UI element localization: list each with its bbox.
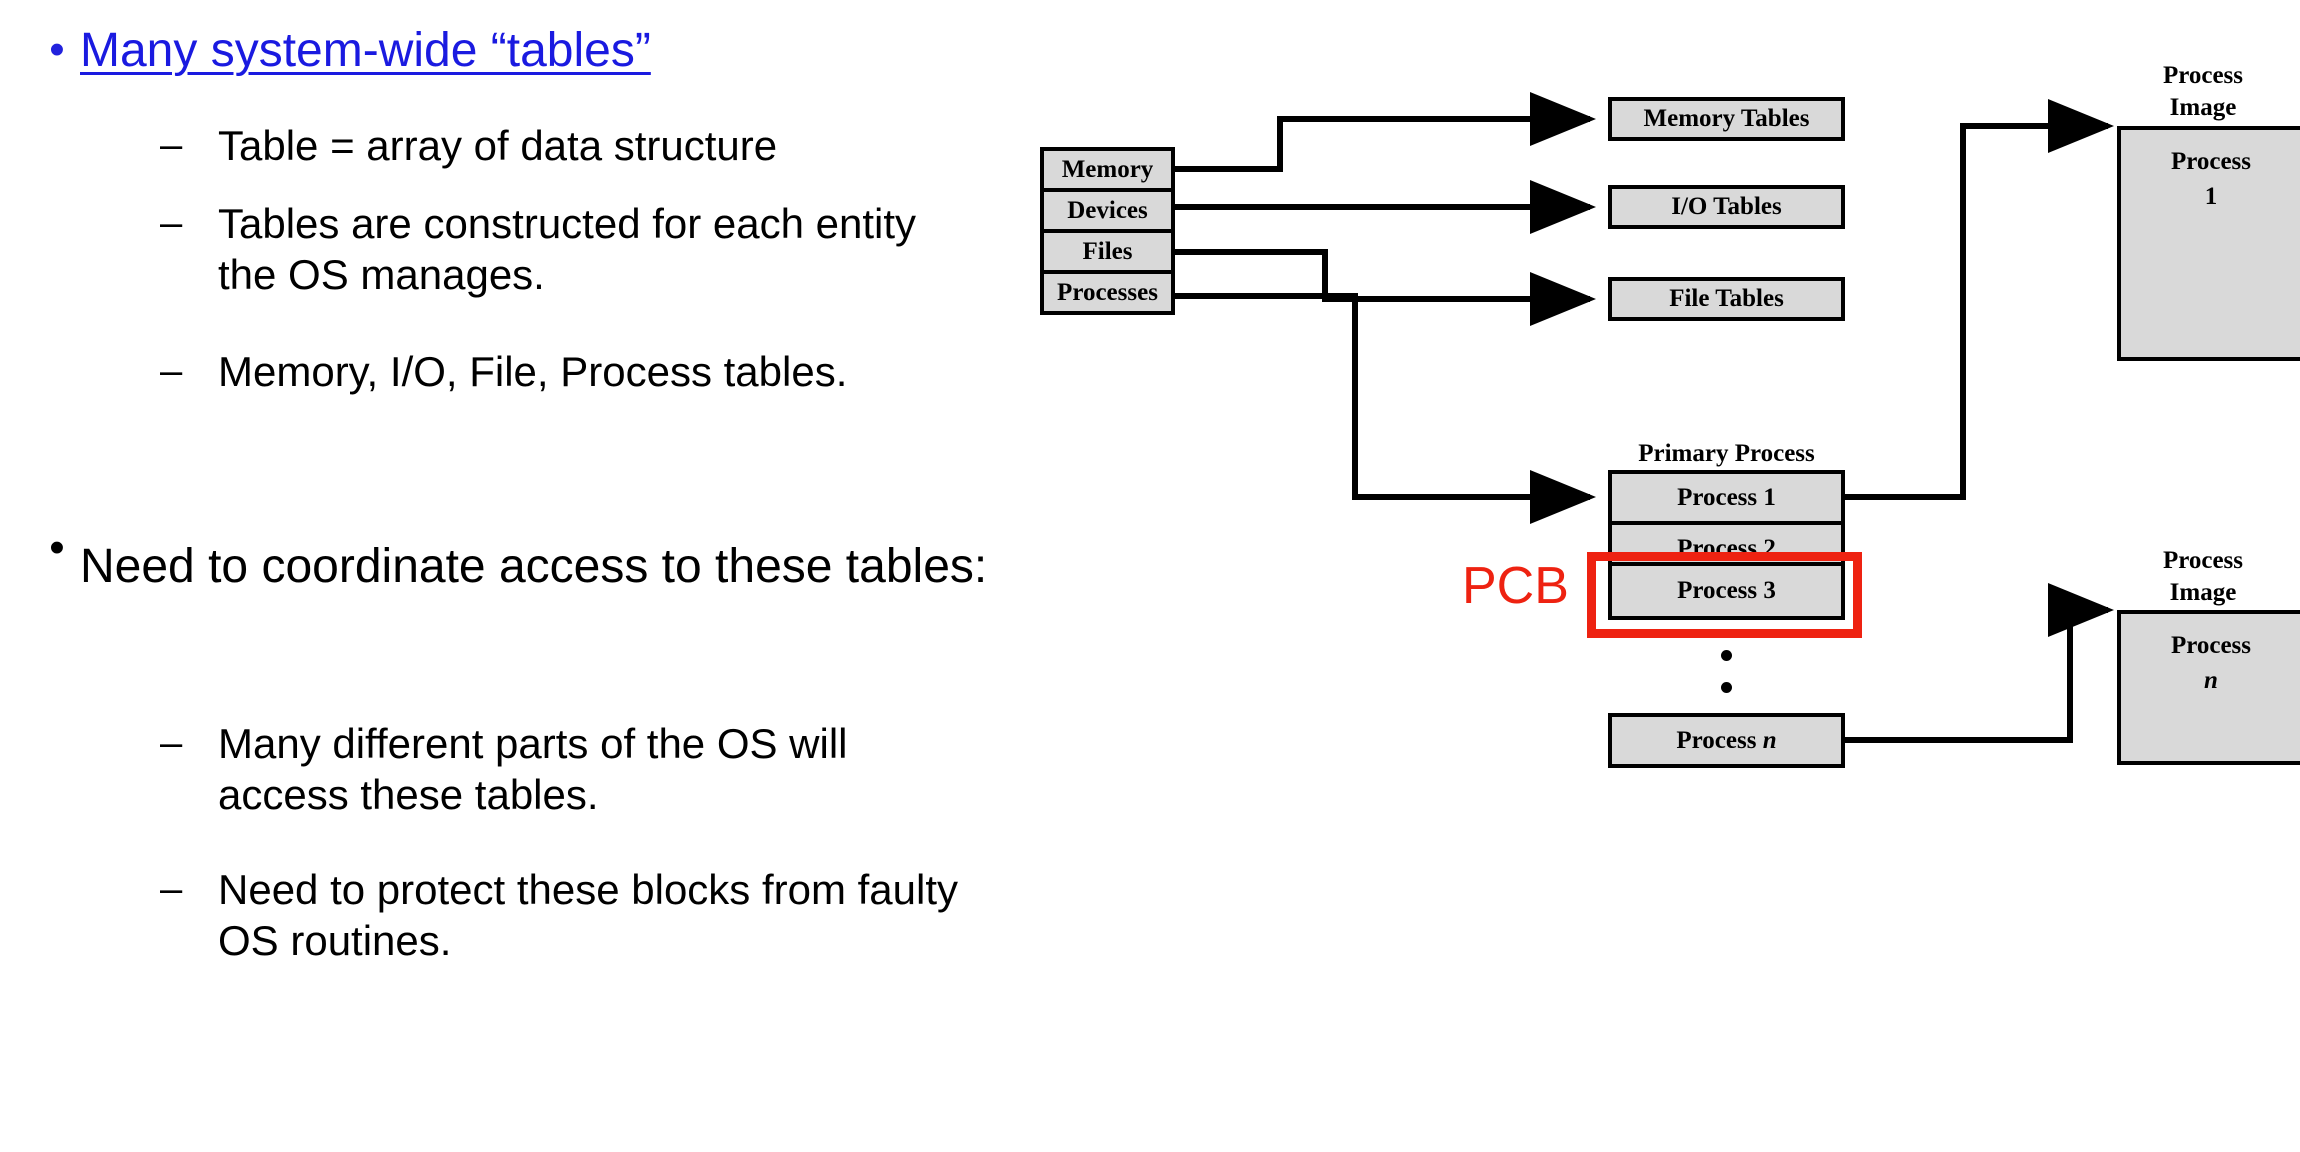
source-row-memory[interactable]: Memory [1040, 147, 1175, 192]
process-image-1-box[interactable]: Process 1 [2117, 126, 2300, 361]
dash-marker: – [160, 120, 218, 170]
process-table-row-1[interactable]: Process 1 [1608, 470, 1845, 525]
bullet-text-coordinate-access: Need to coordinate access to these table… [80, 520, 987, 614]
bullet-item-1: • Many system-wide “tables” [34, 22, 1014, 80]
source-row-files[interactable]: Files [1040, 229, 1175, 274]
sub-bullet-text-table-kinds: Memory, I/O, File, Process tables. [218, 346, 847, 397]
bullet-marker: • [34, 22, 80, 78]
dash-marker: – [160, 198, 218, 248]
process-image-label-line2: 1 [2121, 179, 2300, 214]
source-row-label: Devices [1067, 197, 1148, 225]
source-row-label: Files [1083, 238, 1133, 266]
sub-bullet-item-2: – Tables are constructed for each entity… [160, 198, 950, 300]
wire-process1-to-image1 [1842, 126, 2108, 497]
process-image-n-caption: Process Image [2108, 545, 2298, 609]
memory-tables-label: Memory Tables [1644, 105, 1810, 133]
ellipsis-dot-1 [1721, 650, 1732, 661]
ellipsis-dot-2 [1721, 682, 1732, 693]
io-tables-box[interactable]: I/O Tables [1608, 185, 1845, 229]
bullet-marker: • [34, 520, 80, 576]
sub-bullet-item-4: – Many different parts of the OS will ac… [160, 718, 960, 820]
file-tables-box[interactable]: File Tables [1608, 277, 1845, 321]
dash-marker: – [160, 346, 218, 396]
process-image-caption-line2: Image [2108, 577, 2298, 609]
process-word: Process [1676, 727, 1756, 754]
sub-bullet-text-many-parts-access: Many different parts of the OS will acce… [218, 718, 960, 820]
pcb-highlight-box [1587, 552, 1862, 638]
slide-text-column: • Many system-wide “tables” – Table = ar… [0, 0, 1040, 1152]
source-row-processes[interactable]: Processes [1040, 270, 1175, 315]
sub-bullet-text-tables-constructed: Tables are constructed for each entity t… [218, 198, 950, 300]
process-image-n-label: Process n [2121, 628, 2300, 698]
sub-bullet-text-table-definition: Table = array of data structure [218, 120, 777, 171]
io-tables-label: I/O Tables [1671, 193, 1781, 221]
process-table-row-label: Process 1 [1677, 484, 1776, 512]
wire-processn-to-imagen [1842, 610, 2108, 740]
process-image-caption-line1: Process [2108, 60, 2298, 92]
sub-bullet-item-5: – Need to protect these blocks from faul… [160, 864, 960, 966]
wire-files-to-file-tables [1175, 252, 1590, 299]
process-table-row-label-n: Process n [1676, 727, 1776, 755]
wire-memory-to-memory-tables [1175, 119, 1590, 169]
wire-processes-to-primary-table [1175, 296, 1590, 497]
sub-bullet-text-protect-blocks: Need to protect these blocks from faulty… [218, 864, 960, 966]
os-control-tables-diagram: Memory Devices Files Processes Memory Ta… [1030, 0, 2300, 1152]
process-image-label-line2: n [2121, 663, 2300, 698]
process-table-row-n[interactable]: Process n [1608, 713, 1845, 768]
dash-marker: – [160, 718, 218, 768]
file-tables-label: File Tables [1669, 285, 1784, 313]
process-image-1-label: Process 1 [2121, 144, 2300, 214]
source-row-devices[interactable]: Devices [1040, 188, 1175, 233]
process-image-caption-line2: Image [2108, 92, 2298, 124]
memory-tables-box[interactable]: Memory Tables [1608, 97, 1845, 141]
process-image-label-line1: Process [2121, 628, 2300, 663]
process-image-n-box[interactable]: Process n [2117, 610, 2300, 765]
source-row-label: Processes [1057, 279, 1158, 307]
process-image-caption-line1: Process [2108, 545, 2298, 577]
source-row-label: Memory [1062, 156, 1154, 184]
pcb-annotation-label: PCB [1462, 556, 1569, 616]
bullet-text-many-system-wide-tables[interactable]: Many system-wide “tables” [80, 22, 651, 80]
process-image-1-caption: Process Image [2108, 60, 2298, 124]
process-index-n: n [1763, 727, 1777, 754]
sub-bullet-item-3: – Memory, I/O, File, Process tables. [160, 346, 950, 397]
sub-bullet-item-1: – Table = array of data structure [160, 120, 1030, 171]
bullet-item-2: • Need to coordinate access to these tab… [34, 520, 994, 614]
process-image-label-line1: Process [2121, 144, 2300, 179]
dash-marker: – [160, 864, 218, 914]
